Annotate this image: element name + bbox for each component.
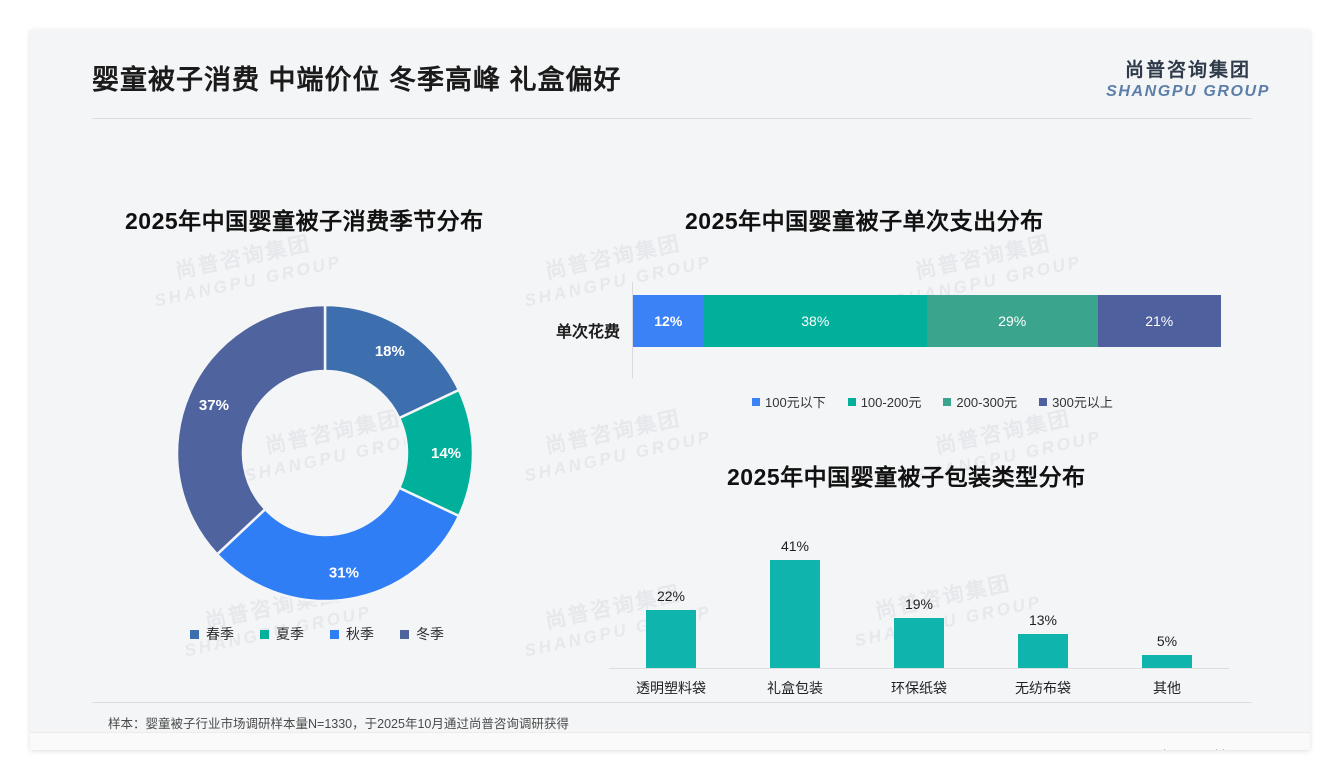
legend-item[interactable]: 秋季 (330, 624, 374, 644)
column-bar[interactable] (894, 618, 944, 668)
legend-item[interactable]: 200-300元 (943, 392, 1017, 411)
column-slot: 5% (1105, 510, 1229, 668)
season-donut-chart: 18%14%31%37% (160, 288, 490, 618)
legend-item[interactable]: 100元以下 (752, 392, 826, 411)
column-slot: 19% (857, 510, 981, 668)
column-value-label: 13% (1029, 612, 1057, 628)
stacked-bar-segment[interactable]: 12% (633, 295, 704, 347)
spend-legend: 100元以下100-200元200-300元300元以上 (752, 392, 1135, 411)
sample-note: 样本：婴童被子行业市场调研样本量N=1330，于2025年10月通过尚普咨询调研… (108, 713, 569, 732)
website-link[interactable]: www.shangpu-china.com (1127, 748, 1266, 750)
legend-swatch-icon (400, 630, 409, 639)
spend-stacked-bar-chart: 单次花费 12%38%29%21% (528, 282, 1228, 382)
column-value-label: 5% (1157, 633, 1177, 649)
column-bar[interactable] (770, 560, 820, 668)
stacked-bar-segment[interactable]: 38% (704, 295, 927, 347)
package-chart-title: 2025年中国婴童被子包装类型分布 (727, 458, 1086, 492)
donut-slice-label: 18% (375, 343, 405, 360)
column-bar[interactable] (1142, 655, 1192, 668)
season-chart-title: 2025年中国婴童被子消费季节分布 (125, 202, 484, 236)
column-bar[interactable] (646, 610, 696, 668)
column-category-label: 其他 (1105, 678, 1229, 698)
column-slot: 13% (981, 510, 1105, 668)
legend-label: 100元以下 (765, 392, 826, 411)
header-divider (92, 118, 1252, 119)
package-baseline (609, 668, 1229, 669)
legend-swatch-icon (752, 398, 760, 406)
company-logo: 尚普咨询集团 SHANGPU GROUP (1106, 60, 1270, 101)
logo-text-en: SHANGPU GROUP (1106, 82, 1270, 101)
legend-swatch-icon (1039, 398, 1047, 406)
column-slot: 22% (609, 510, 733, 668)
legend-swatch-icon (848, 398, 856, 406)
legend-item[interactable]: 冬季 (400, 624, 444, 644)
logo-text-cn: 尚普咨询集团 (1106, 60, 1270, 82)
legend-item[interactable]: 夏季 (260, 624, 304, 644)
donut-slice[interactable] (177, 305, 325, 554)
legend-item[interactable]: 300元以上 (1039, 392, 1113, 411)
donut-slice-label: 31% (329, 565, 359, 582)
legend-swatch-icon (190, 630, 199, 639)
stacked-bar-segment[interactable]: 29% (927, 295, 1098, 347)
watermark: 尚普咨询集团 SHANGPU GROUP (517, 401, 714, 487)
donut-svg: 18%14%31%37% (160, 288, 490, 618)
legend-label: 冬季 (416, 624, 444, 644)
stacked-bar-segment[interactable]: 21% (1098, 295, 1221, 347)
package-column-chart: 22%41%19%13%5% 透明塑料袋礼盒包装环保纸袋无纺布袋其他 (595, 510, 1245, 710)
spend-row-label: 单次花费 (528, 318, 620, 342)
column-slot: 41% (733, 510, 857, 668)
legend-swatch-icon (260, 630, 269, 639)
column-bar[interactable] (1018, 634, 1068, 668)
spend-bar-track: 12%38%29%21% (633, 295, 1221, 347)
column-category-label: 透明塑料袋 (609, 678, 733, 698)
column-category-label: 无纺布袋 (981, 678, 1105, 698)
legend-label: 秋季 (346, 624, 374, 644)
slide-footer: ©2025.12 SHANGPU GROUP www.shangpu-china… (30, 732, 1310, 750)
copyright-text: ©2025.12 SHANGPU GROUP (74, 748, 243, 750)
legend-item[interactable]: 春季 (190, 624, 234, 644)
legend-item[interactable]: 100-200元 (848, 392, 922, 411)
legend-swatch-icon (330, 630, 339, 639)
column-value-label: 19% (905, 596, 933, 612)
legend-label: 300元以上 (1052, 392, 1113, 411)
legend-label: 100-200元 (861, 392, 922, 411)
season-legend: 春季夏季秋季冬季 (190, 624, 470, 644)
slide-canvas: 尚普咨询集团 SHANGPU GROUP 尚普咨询集团 SHANGPU GROU… (30, 30, 1310, 750)
package-category-axis: 透明塑料袋礼盒包装环保纸袋无纺布袋其他 (609, 678, 1229, 698)
column-value-label: 22% (657, 588, 685, 604)
donut-slice-label: 37% (199, 397, 229, 414)
package-plot-area: 22%41%19%13%5% (609, 510, 1229, 668)
column-category-label: 环保纸袋 (857, 678, 981, 698)
column-value-label: 41% (781, 538, 809, 554)
legend-label: 春季 (206, 624, 234, 644)
slide-header: 婴童被子消费 中端价位 冬季高峰 礼盒偏好 尚普咨询集团 SHANGPU GRO… (30, 30, 1310, 120)
note-divider (92, 702, 1252, 703)
page-title: 婴童被子消费 中端价位 冬季高峰 礼盒偏好 (92, 58, 622, 97)
donut-slice-label: 14% (431, 445, 461, 462)
spend-chart-title: 2025年中国婴童被子单次支出分布 (685, 202, 1044, 236)
legend-label: 200-300元 (956, 392, 1017, 411)
column-category-label: 礼盒包装 (733, 678, 857, 698)
legend-label: 夏季 (276, 624, 304, 644)
legend-swatch-icon (943, 398, 951, 406)
